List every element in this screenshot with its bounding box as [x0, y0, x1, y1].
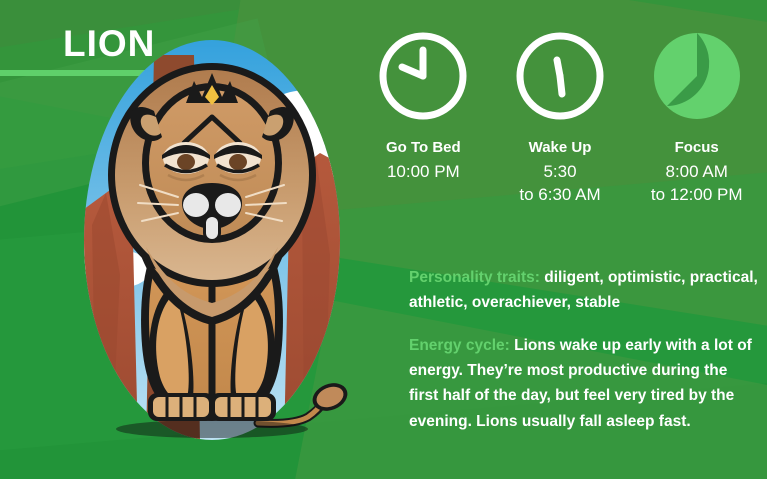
metric-value: 5:30 to 6:30 AM — [519, 161, 600, 207]
metric-value: 8:00 AM to 12:00 PM — [651, 161, 743, 207]
metric-focus: Focus 8:00 AM to 12:00 PM — [628, 28, 765, 207]
metric-value: 10:00 PM — [387, 161, 460, 184]
metric-label: Focus — [675, 139, 719, 156]
metric-go-to-bed: Go To Bed 10:00 PM — [355, 28, 492, 207]
lion-chronotype-card: LION — [0, 0, 767, 479]
energy-cycle-label: Energy cycle: — [409, 337, 510, 354]
clock-icon — [512, 28, 608, 124]
metric-label: Wake Up — [529, 139, 592, 156]
pie-chart-icon — [649, 28, 745, 124]
metric-wake-up: Wake Up 5:30 to 6:30 AM — [492, 28, 629, 207]
info-block: Personality traits: diligent, optimistic… — [409, 265, 759, 434]
lion-illustration — [62, 25, 362, 445]
energy-cycle-paragraph: Energy cycle: Lions wake up early with a… — [409, 333, 759, 433]
lion-paws — [148, 393, 276, 421]
metrics-row: Go To Bed 10:00 PM Wake Up 5:30 to 6:30 … — [355, 28, 765, 207]
personality-traits-paragraph: Personality traits: diligent, optimistic… — [409, 265, 759, 315]
personality-traits-label: Personality traits: — [409, 269, 540, 286]
metric-label: Go To Bed — [386, 139, 461, 156]
clock-icon — [375, 28, 471, 124]
